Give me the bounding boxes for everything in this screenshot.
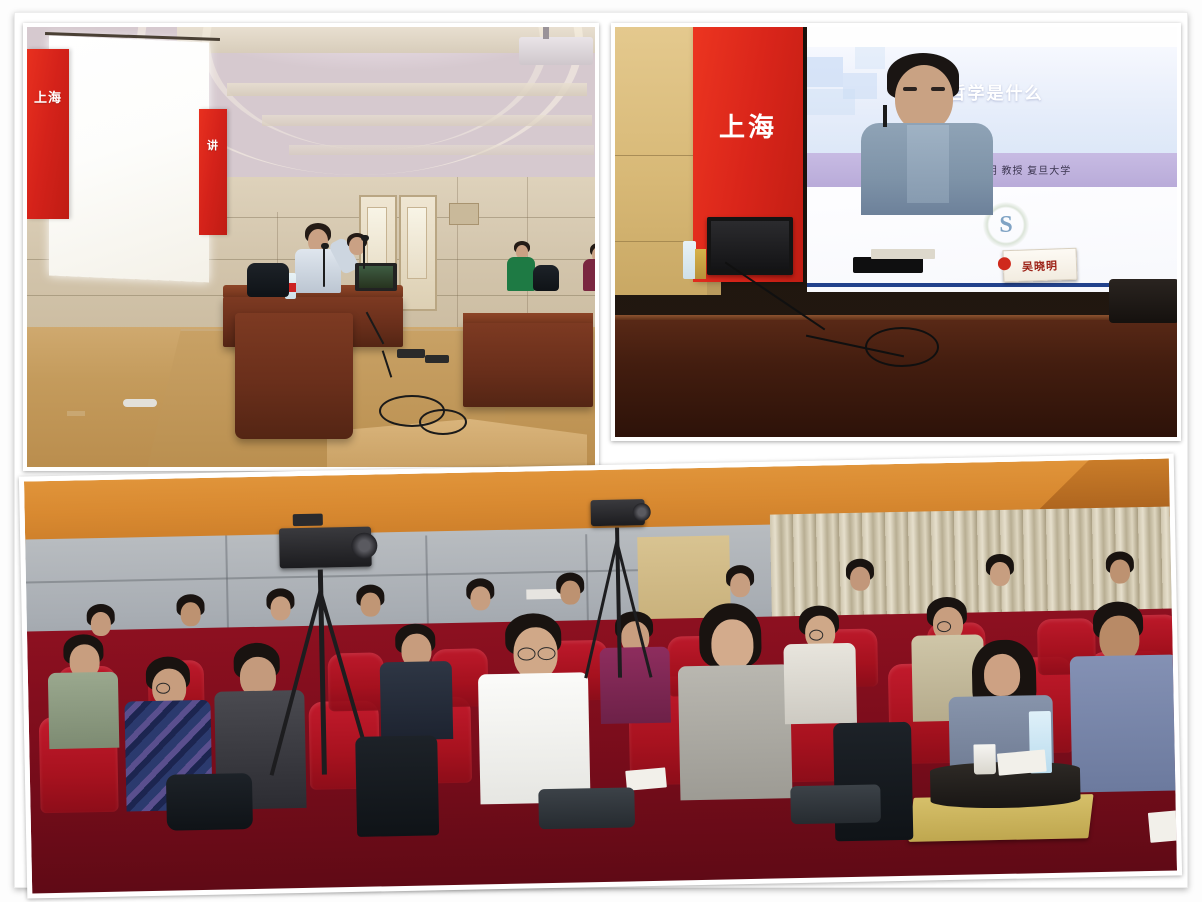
seat-armrest-2 <box>790 784 881 824</box>
ceiling-band-3 <box>262 115 592 126</box>
banner-text: 上海 <box>693 107 803 144</box>
camera-tripod-right <box>580 497 674 699</box>
banner-right-text: 讲 <box>199 137 227 153</box>
camera-handle <box>293 514 323 527</box>
panel-lecture-hall-wide[interactable]: 上海 讲 <box>23 23 599 471</box>
photo-collage: 上海 讲 <box>0 0 1202 902</box>
keyboard <box>853 257 923 273</box>
photo-lecture-hall: 上海 讲 <box>27 27 595 467</box>
name-placard: 吴晓明 <box>1002 248 1077 283</box>
banner-left-text: 上海 <box>27 87 69 106</box>
microphone-2 <box>363 239 365 269</box>
lapel-microphone <box>883 105 887 127</box>
coffee-cup <box>973 744 996 774</box>
coat-on-seat <box>355 735 439 837</box>
handbag <box>166 773 253 831</box>
bag-on-table <box>247 263 289 297</box>
notebook <box>1148 808 1177 843</box>
banner-right: 讲 <box>199 109 227 235</box>
papers <box>871 249 935 259</box>
tea-cup <box>695 249 706 279</box>
projector <box>519 37 593 65</box>
placard-name: 吴晓明 <box>1004 257 1077 276</box>
papers-on-table <box>997 749 1047 775</box>
photo-audience <box>24 459 1177 894</box>
panel-audience[interactable] <box>19 453 1182 898</box>
floor-object <box>123 399 157 407</box>
slide-title: 哲学是什么 <box>807 79 1177 104</box>
ceiling-band-2 <box>227 83 587 96</box>
wall-sign <box>449 203 479 225</box>
collage-frame: 上海 讲 <box>14 12 1188 888</box>
seat-armrest <box>538 787 635 829</box>
panel-speaker-closeup[interactable]: 上海 哲学是什么 主讲人：吴晓明 教授 复旦大学 S <box>611 23 1181 441</box>
podium-front <box>235 313 353 439</box>
photo-speaker: 上海 哲学是什么 主讲人：吴晓明 教授 复旦大学 S <box>615 27 1177 437</box>
banner-left: 上海 <box>27 49 69 219</box>
power-strip <box>397 349 425 358</box>
ceiling-band-4 <box>289 145 594 155</box>
projector-mount <box>543 27 549 39</box>
backpack <box>833 722 913 842</box>
microphone-1 <box>323 247 325 287</box>
chair-back <box>1109 279 1177 323</box>
side-desk <box>463 323 593 407</box>
projection-screen <box>49 36 209 283</box>
